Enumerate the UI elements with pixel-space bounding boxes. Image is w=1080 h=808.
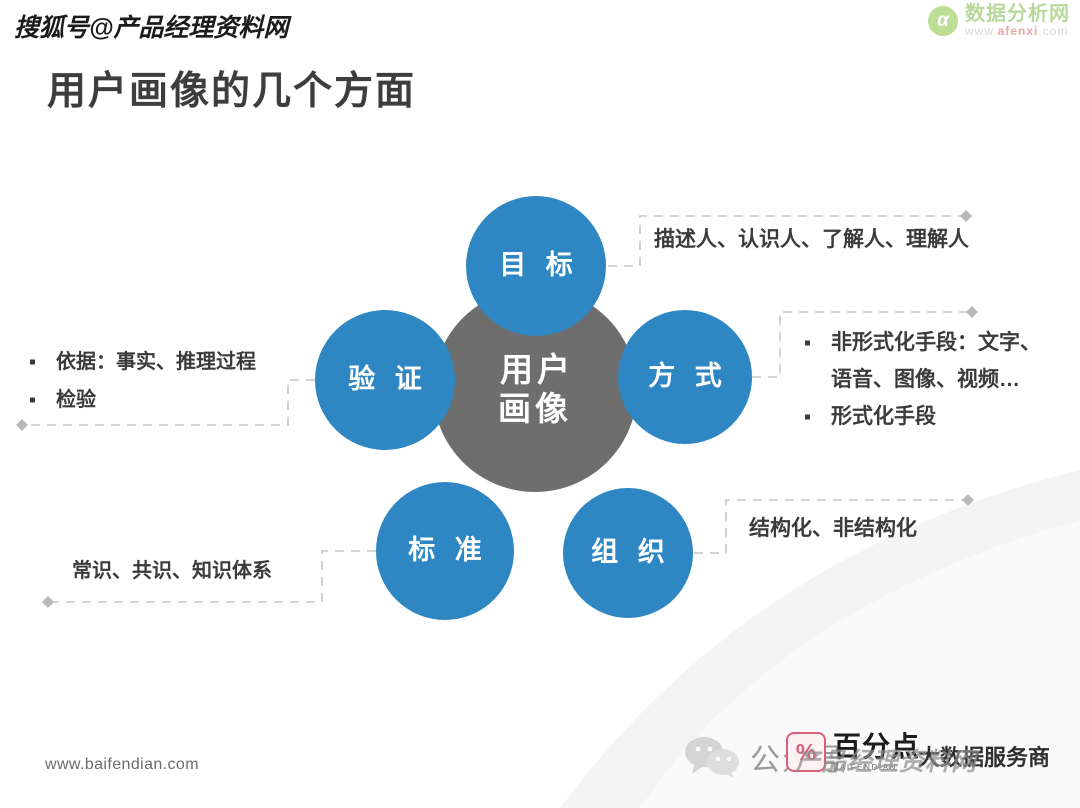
hub-label: 用户画像: [496, 351, 574, 429]
annotation-method-line-2: 语音、图像、视频…: [797, 362, 1041, 399]
annotation-organize-line-1: 结构化、非结构化: [749, 513, 917, 546]
afenxi-alpha-icon: α: [928, 6, 958, 36]
annotation-method: 非形式化手段：文字、 语音、图像、视频… 形式化手段: [797, 325, 1041, 435]
annotation-target: 描述人、认识人、了解人、理解人: [654, 224, 969, 257]
watermark-site-url: www.afenxi.com: [965, 25, 1070, 38]
wechat-icon: [684, 736, 742, 778]
annotation-verify-line-2: 检验: [56, 389, 96, 411]
annotation-organize: 结构化、非结构化: [749, 513, 917, 546]
watermark-top-left: 搜狐号@产品经理资料网: [14, 8, 288, 44]
annotation-method-bullet-2: 形式化手段: [797, 399, 1041, 436]
annotation-verify-line-1: 依据：事实、推理过程: [56, 351, 256, 373]
annotation-verify: 依据：事实、推理过程 检验: [22, 343, 256, 419]
annotation-standard-line-1: 常识、共识、知识体系: [72, 556, 272, 587]
petal-circle-target[interactable]: 目 标: [466, 196, 606, 336]
annotation-method-line-1: 非形式化手段：文字、: [831, 331, 1041, 354]
annotation-verify-bullet-2: 检验: [22, 381, 256, 419]
annotation-target-line-1: 描述人、认识人、了解人、理解人: [654, 224, 969, 257]
annotation-method-bullet-1: 非形式化手段：文字、: [797, 325, 1041, 362]
footer-url: www.baifendian.com: [45, 756, 199, 774]
annotation-method-line-3: 形式化手段: [831, 405, 936, 428]
petal-circle-verify[interactable]: 验 证: [315, 310, 455, 450]
watermark-top-right: α 数据分析网 www.afenxi.com: [928, 4, 1070, 38]
watermark-bottom-overlay: 产品经理资料网: [795, 742, 977, 778]
annotation-verify-bullet-1: 依据：事实、推理过程: [22, 343, 256, 381]
petal-circle-standard[interactable]: 标 准: [376, 482, 514, 620]
watermark-site-name: 数据分析网: [965, 4, 1070, 25]
petal-circle-organize[interactable]: 组 织: [563, 488, 693, 618]
petal-circle-method[interactable]: 方 式: [618, 310, 752, 444]
slide-canvas: 搜狐号@产品经理资料网 α 数据分析网 www.afenxi.com 用户画像的…: [0, 0, 1080, 808]
annotation-standard: 常识、共识、知识体系: [72, 556, 272, 587]
page-title: 用户画像的几个方面: [47, 60, 416, 116]
